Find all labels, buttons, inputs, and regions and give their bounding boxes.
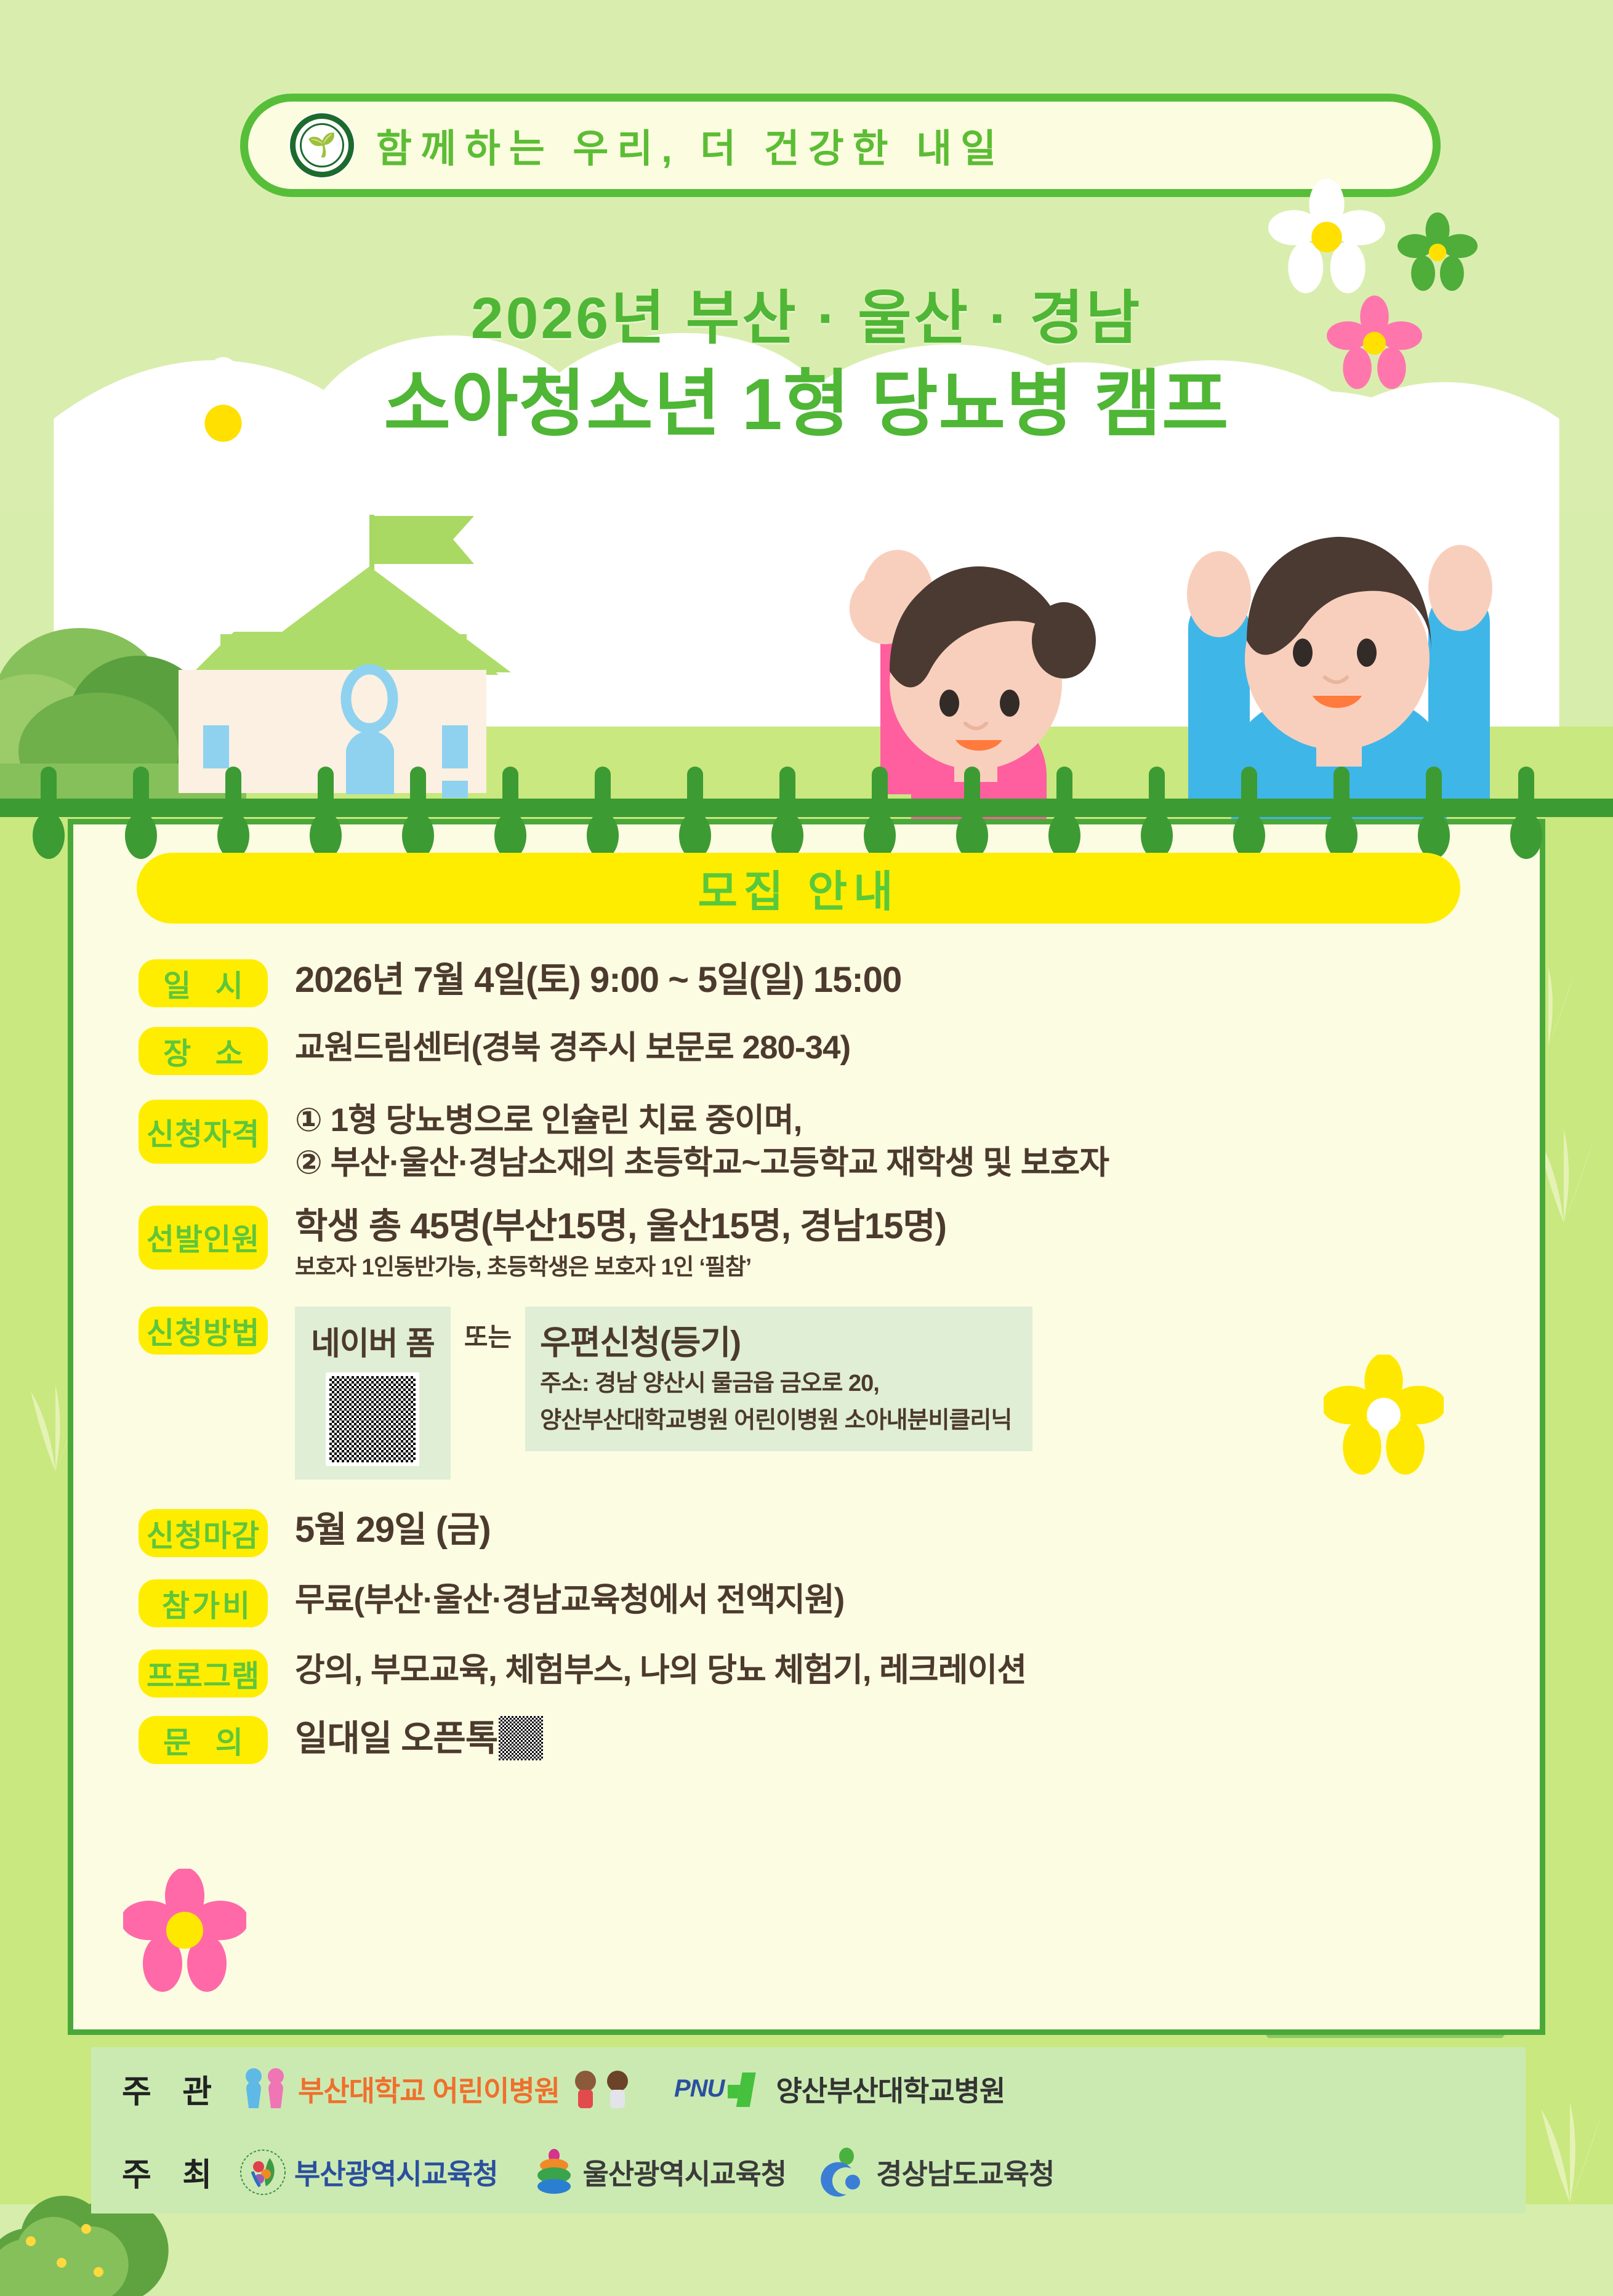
footer-org-ulsan-education-office: 울산광역시교육청 xyxy=(533,2148,787,2196)
apply-method-box: 네이버 폼 또는 우편신청(등기) 주소: 경남 양산시 물금읍 금오로 20,… xyxy=(295,1307,1032,1480)
grass-tuft-bottom-icon xyxy=(1527,2093,1613,2204)
ulsan-edu-logo-icon xyxy=(533,2148,576,2196)
footer-org-name-ulsan-edu: 울산광역시교육청 xyxy=(583,2152,787,2193)
row-value-deadline-wrap: 5월 29일 (금) xyxy=(295,1509,1545,1551)
row-value-eligibility-2: ② 부산·울산·경남소재의 초등학교~고등학교 재학생 및 보호자 xyxy=(295,1142,1545,1185)
row-value-quota: 학생 총 45명(부산15명, 울산15명, 경남15명) xyxy=(295,1206,1545,1247)
school-house-icon xyxy=(105,511,573,800)
postal-apply-block: 우편신청(등기) 주소: 경남 양산시 물금읍 금오로 20, 양산부산대학교병… xyxy=(525,1307,1032,1451)
fence-decoration xyxy=(0,767,1613,859)
row-label-fee: 참가비 xyxy=(139,1579,268,1627)
row-label-quota: 선발인원 xyxy=(139,1206,268,1270)
apply-or-label: 또는 xyxy=(464,1316,512,1354)
footer-row-hosts: 주 관 부산대학교 어린이병원 PNU xyxy=(91,2047,1526,2130)
row-value-deadline: 5월 29일 (금) xyxy=(295,1509,1545,1551)
info-row-place: 장 소 교원드림센터(경북 경주시 보문로 280-34) xyxy=(68,1027,1545,1075)
poster-canvas: 🌱 함께하는 우리, 더 건강한 내일 2026년 부산 · 울산 · 경남 소… xyxy=(0,0,1613,2296)
naver-form-label: 네이버 폼 xyxy=(311,1318,435,1364)
row-value-date-wrap: 2026년 7월 4일(토) 9:00 ~ 5일(일) 15:00 xyxy=(295,959,1545,1001)
footer-host-label: 주 관 xyxy=(122,2066,239,2112)
row-value-contact-wrap: 일대일 오픈톡 xyxy=(295,1716,1545,1760)
row-value-place-wrap: 교원드림센터(경북 경주시 보문로 280-34) xyxy=(295,1027,1545,1069)
postal-address-line1: 주소: 경남 양산시 물금읍 금오로 20, xyxy=(540,1368,1012,1401)
footer-org-busan-education-office: 부산광역시교육청 xyxy=(239,2148,498,2196)
row-value-program: 강의, 부모교육, 체험부스, 나의 당뇨 체험기, 레크레이션 xyxy=(295,1649,1545,1692)
row-value-date: 2026년 7월 4일(토) 9:00 ~ 5일(일) 15:00 xyxy=(295,959,1545,1001)
info-row-quota: 선발인원 학생 총 45명(부산15명, 울산15명, 경남15명) 보호자 1… xyxy=(68,1206,1545,1283)
busan-edu-logo-icon xyxy=(239,2148,287,2196)
postal-address-line2: 양산부산대학교병원 어린이병원 소아내분비클리닉 xyxy=(540,1404,1012,1438)
row-label-deadline: 신청마감 xyxy=(139,1509,268,1557)
info-row-deadline: 신청마감 5월 29일 (금) xyxy=(68,1509,1545,1557)
info-row-program: 프로그램 강의, 부모교육, 체험부스, 나의 당뇨 체험기, 레크레이션 xyxy=(68,1649,1545,1698)
row-label-date: 일 시 xyxy=(139,959,268,1007)
row-value-eligibility-wrap: ① 1형 당뇨병으로 인슐린 치료 중이며, ② 부산·울산·경남소재의 초등학… xyxy=(295,1100,1545,1185)
footer-panel: 주 관 부산대학교 어린이병원 PNU xyxy=(91,2047,1526,2213)
row-value-eligibility-1: ① 1형 당뇨병으로 인슐린 치료 중이며, xyxy=(295,1100,1545,1142)
flower-white-large-icon xyxy=(157,357,289,489)
camp-emblem-icon: 🌱 xyxy=(289,112,355,179)
info-rows: 일 시 2026년 7월 4일(토) 9:00 ~ 5일(일) 15:00 장 … xyxy=(68,936,1545,1768)
info-row-fee: 참가비 무료(부산·울산·경남교육청에서 전액지원) xyxy=(68,1579,1545,1627)
row-label-eligibility: 신청자격 xyxy=(139,1100,268,1164)
footer-org-pnu-yangsan-hospital: PNU 양산부산대학교병원 xyxy=(674,2069,1005,2109)
row-value-fee: 무료(부산·울산·경남교육청에서 전액지원) xyxy=(295,1579,1545,1622)
row-note-quota: 보호자 1인동반가능, 초등학생은 보호자 1인 ‘필참’ xyxy=(295,1252,1545,1282)
postal-apply-title: 우편신청(등기) xyxy=(540,1315,1012,1364)
row-value-program-wrap: 강의, 부모교육, 체험부스, 나의 당뇨 체험기, 레크레이션 xyxy=(295,1649,1545,1692)
cross-logo-icon xyxy=(728,2071,767,2107)
row-value-place: 교원드림센터(경북 경주시 보문로 280-34) xyxy=(295,1027,1545,1069)
row-label-program: 프로그램 xyxy=(139,1649,268,1698)
row-value-fee-wrap: 무료(부산·울산·경남교육청에서 전액지원) xyxy=(295,1579,1545,1622)
footer-org-name-childrens-hospital: 부산대학교 어린이병원 xyxy=(298,2069,560,2109)
flower-pink-bottom-icon xyxy=(123,1869,246,1992)
footer-org-gyeongnam-education-office: 경상남도교육청 xyxy=(821,2148,1054,2197)
mascot-pair-icon xyxy=(566,2068,640,2111)
info-row-contact: 문 의 일대일 오픈톡 xyxy=(68,1716,1545,1764)
footer-org-name-busan-edu: 부산광역시교육청 xyxy=(294,2152,498,2193)
footer-org-name-gyeongnam-edu: 경상남도교육청 xyxy=(876,2152,1054,2193)
naver-form-block[interactable]: 네이버 폼 xyxy=(295,1307,451,1480)
flower-yellow-icon xyxy=(1324,1355,1444,1475)
panel-heading: 모집 안내 xyxy=(137,853,1460,924)
row-label-contact: 문 의 xyxy=(139,1716,268,1764)
row-label-place: 장 소 xyxy=(139,1027,268,1075)
open-talk-qr-code[interactable] xyxy=(499,1716,543,1760)
row-value-contact-line: 일대일 오픈톡 xyxy=(295,1716,1545,1760)
pnu-mark-text: PNU xyxy=(674,2075,724,2103)
flower-pink-icon xyxy=(1327,296,1422,391)
row-value-quota-wrap: 학생 총 45명(부산15명, 울산15명, 경남15명) 보호자 1인동반가능… xyxy=(295,1206,1545,1283)
slogan-text: 함께하는 우리, 더 건강한 내일 xyxy=(376,118,1005,174)
footer-org-pnu-childrens-hospital: 부산대학교 어린이병원 xyxy=(239,2066,640,2112)
childrens-hospital-logo-icon xyxy=(239,2066,292,2112)
footer-org-name-yangsan-hospital: 양산부산대학교병원 xyxy=(776,2069,1005,2109)
row-value-contact: 일대일 오픈톡 xyxy=(295,1718,497,1758)
flower-green-icon xyxy=(1398,212,1478,292)
row-label-apply-method: 신청방법 xyxy=(139,1307,268,1355)
gyeongnam-edu-logo-icon xyxy=(821,2148,869,2197)
footer-row-organizers: 주 최 부산광역시교육청 울산 xyxy=(91,2130,1526,2213)
info-row-eligibility: 신청자격 ① 1형 당뇨병으로 인슐린 치료 중이며, ② 부산·울산·경남소재… xyxy=(68,1100,1545,1185)
naver-form-qr-code[interactable] xyxy=(326,1372,419,1466)
flower-white-icon xyxy=(1268,179,1385,296)
footer-organizer-label: 주 최 xyxy=(122,2149,239,2195)
panel-heading-text: 모집 안내 xyxy=(698,857,899,919)
slogan-ribbon: 🌱 함께하는 우리, 더 건강한 내일 xyxy=(240,94,1441,197)
info-row-date: 일 시 2026년 7월 4일(토) 9:00 ~ 5일(일) 15:00 xyxy=(68,959,1545,1007)
